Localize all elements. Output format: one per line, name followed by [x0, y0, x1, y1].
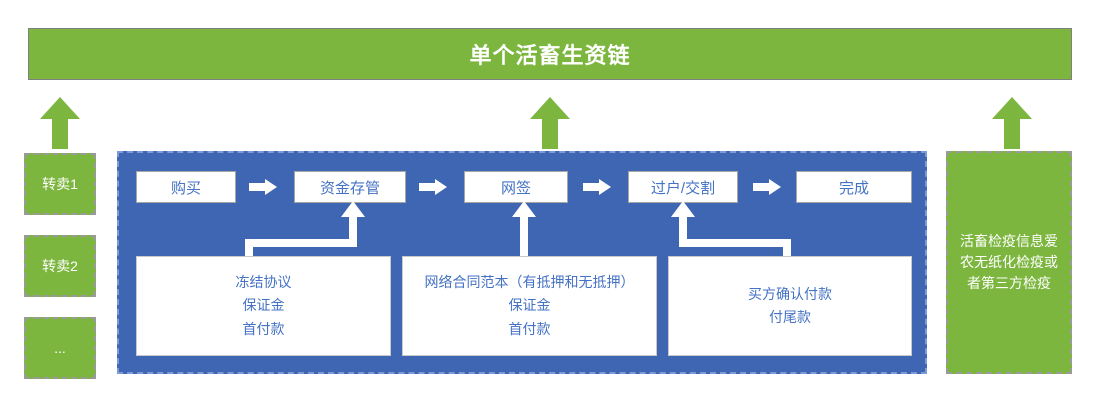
- quarantine-info-panel-label: 活畜检疫信息爱农无纸化检疫或者第三方检疫: [956, 231, 1062, 294]
- resale-box-1: 转卖1: [24, 153, 96, 215]
- resale-box-3-label: ...: [54, 340, 66, 356]
- resale-box-2: 转卖2: [24, 235, 96, 297]
- detail-card-transfer-delivery-line-1: 买方确认付款: [748, 283, 832, 306]
- connector-detail-0-to-fund-custody: [239, 199, 369, 259]
- process-step-purchase-label: 购买: [171, 177, 201, 198]
- detail-card-fund-custody-line-1: 冻结协议: [236, 271, 292, 294]
- diagram-title-banner: 单个活畜生资链: [28, 28, 1072, 80]
- detail-card-online-signing: 网络合同范本（有抵押和无抵押） 保证金 首付款: [402, 256, 657, 356]
- detail-card-online-signing-line-3: 首付款: [509, 318, 551, 341]
- resale-box-3: ...: [24, 317, 96, 379]
- right-arrow-icon: [419, 179, 447, 195]
- detail-card-fund-custody-line-2: 保证金: [243, 294, 285, 317]
- right-arrow-icon: [249, 179, 277, 195]
- process-container: 购买 资金存管 网签 过户/交割 完成: [117, 151, 927, 374]
- right-arrow-icon: [583, 179, 611, 195]
- detail-card-online-signing-line-1: 网络合同范本（有抵押和无抵押）: [425, 271, 635, 294]
- process-step-purchase: 购买: [136, 171, 236, 203]
- process-step-complete-label: 完成: [839, 177, 869, 198]
- process-step-fund-custody-label: 资金存管: [320, 177, 380, 198]
- detail-card-fund-custody: 冻结协议 保证金 首付款: [136, 256, 391, 356]
- process-step-online-signing: 网签: [464, 171, 568, 203]
- detail-card-transfer-delivery: 买方确认付款 付尾款: [668, 256, 912, 356]
- connector-detail-1-to-online-signing: [511, 199, 537, 259]
- detail-card-transfer-delivery-line-2: 付尾款: [769, 306, 811, 329]
- right-arrow-icon: [753, 179, 781, 195]
- process-step-transfer-delivery-label: 过户/交割: [651, 177, 715, 198]
- process-step-transfer-delivery: 过户/交割: [628, 171, 738, 203]
- detail-card-fund-custody-line-3: 首付款: [243, 318, 285, 341]
- page-title: 单个活畜生资链: [469, 38, 630, 70]
- process-step-online-signing-label: 网签: [501, 177, 531, 198]
- process-step-fund-custody: 资金存管: [294, 171, 406, 203]
- resale-box-2-label: 转卖2: [42, 256, 78, 276]
- up-arrow-icon: [40, 97, 80, 149]
- up-arrow-icon: [530, 97, 570, 149]
- resale-box-1-label: 转卖1: [42, 174, 78, 194]
- process-step-complete: 完成: [796, 171, 912, 203]
- detail-card-online-signing-line-2: 保证金: [509, 294, 551, 317]
- connector-detail-2-to-transfer-delivery: [667, 199, 797, 259]
- up-arrow-icon: [992, 97, 1032, 149]
- quarantine-info-panel: 活畜检疫信息爱农无纸化检疫或者第三方检疫: [946, 151, 1072, 374]
